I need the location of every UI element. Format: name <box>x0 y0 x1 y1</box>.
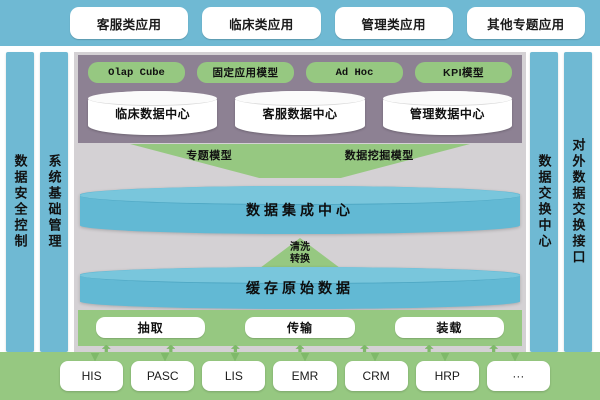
etl-step-label: 抽取 <box>138 319 164 336</box>
source-system-more[interactable]: ··· <box>487 361 550 391</box>
etl-step-label: 传输 <box>287 319 313 336</box>
etl-step-extract[interactable]: 抽取 <box>96 317 205 338</box>
etl-step-label: 装载 <box>436 319 462 336</box>
etl-step-transfer[interactable]: 传输 <box>245 317 354 338</box>
model-pill-label: Ad Hoc <box>336 67 374 79</box>
source-system-label: PASC <box>147 369 179 383</box>
app-pill-label: 其他专题应用 <box>487 14 564 33</box>
app-pill-clinical[interactable]: 临床类应用 <box>202 7 320 39</box>
source-system-crm[interactable]: CRM <box>345 361 408 391</box>
sidebar-data-exchange-center[interactable]: 数据交换中心 <box>530 52 558 352</box>
analytic-panel: Olap Cube 固定应用模型 Ad Hoc KPI模型 临床数据中心 客服数… <box>78 55 522 143</box>
transform-label-cleanse: 清洗 <box>290 242 310 255</box>
model-pill-kpi-model[interactable]: KPI模型 <box>415 62 512 83</box>
etl-step-row: 抽取 传输 装载 <box>96 317 504 338</box>
source-system-emr[interactable]: EMR <box>273 361 336 391</box>
sidebar-label: 系统基础管理 <box>48 154 61 250</box>
source-system-lis[interactable]: LIS <box>202 361 265 391</box>
source-system-row: HIS PASC LIS EMR CRM HRP ··· <box>60 361 550 391</box>
data-center-label: 客服数据中心 <box>262 105 337 122</box>
sidebar-label: 数据安全控制 <box>14 154 27 250</box>
top-application-band: 客服类应用 临床类应用 管理类应用 其他专题应用 <box>0 0 600 46</box>
source-system-label: CRM <box>362 369 389 383</box>
source-system-label: EMR <box>292 369 319 383</box>
cache-raw-data-layer[interactable]: 缓存原始数据 <box>80 267 520 309</box>
app-pill-label: 临床类应用 <box>229 14 294 33</box>
source-system-label: HRP <box>435 369 460 383</box>
transform-arrow-labels: 清洗 转换 <box>260 239 340 269</box>
sidebar-system-base-management[interactable]: 系统基础管理 <box>40 52 68 352</box>
application-pill-row: 客服类应用 临床类应用 管理类应用 其他专题应用 <box>70 7 585 39</box>
sidebar-label: 数据交换中心 <box>538 154 551 250</box>
data-integration-center-label: 数据集成中心 <box>246 200 354 220</box>
sidebar-external-data-exchange-interface[interactable]: 对外数据交换接口 <box>564 52 592 352</box>
app-pill-customer-service[interactable]: 客服类应用 <box>70 7 188 39</box>
app-pill-label: 客服类应用 <box>97 14 162 33</box>
cache-raw-data-label: 缓存原始数据 <box>246 278 354 298</box>
etl-step-load[interactable]: 装载 <box>395 317 504 338</box>
funnel-label-data-mining-model: 数据挖掘模型 <box>345 147 414 163</box>
source-system-hrp[interactable]: HRP <box>416 361 479 391</box>
transform-label-convert: 转换 <box>290 254 310 267</box>
data-center-row: 临床数据中心 客服数据中心 管理数据中心 <box>88 91 512 135</box>
model-pill-ad-hoc[interactable]: Ad Hoc <box>306 62 403 83</box>
model-pill-olap-cube[interactable]: Olap Cube <box>88 62 185 83</box>
model-pill-fixed-application-model[interactable]: 固定应用模型 <box>197 62 294 83</box>
app-pill-management[interactable]: 管理类应用 <box>335 7 453 39</box>
data-integration-center[interactable]: 数据集成中心 <box>80 186 520 234</box>
data-center-label: 临床数据中心 <box>115 105 190 122</box>
data-center-management[interactable]: 管理数据中心 <box>383 91 512 135</box>
source-system-his[interactable]: HIS <box>60 361 123 391</box>
data-center-label: 管理数据中心 <box>410 105 485 122</box>
model-pill-label: Olap Cube <box>108 67 165 79</box>
sidebar-data-security-control[interactable]: 数据安全控制 <box>6 52 34 352</box>
model-pill-label: 固定应用模型 <box>213 65 279 80</box>
app-pill-label: 管理类应用 <box>361 14 426 33</box>
source-system-label: HIS <box>82 369 102 383</box>
model-pill-label: KPI模型 <box>443 65 484 80</box>
source-system-pasc[interactable]: PASC <box>131 361 194 391</box>
funnel-label-topic-model: 专题模型 <box>186 147 232 163</box>
data-center-clinical[interactable]: 临床数据中心 <box>88 91 217 135</box>
data-center-customer-service[interactable]: 客服数据中心 <box>235 91 364 135</box>
central-stack: Olap Cube 固定应用模型 Ad Hoc KPI模型 临床数据中心 客服数… <box>74 52 526 352</box>
app-pill-other-topic[interactable]: 其他专题应用 <box>467 7 585 39</box>
source-system-label: LIS <box>225 369 243 383</box>
source-system-label: ··· <box>512 369 524 383</box>
sidebar-label: 对外数据交换接口 <box>572 138 585 266</box>
architecture-diagram: 客服类应用 临床类应用 管理类应用 其他专题应用 数据安全控制 系统基础管理 数… <box>0 0 600 400</box>
model-funnel-labels: 专题模型 数据挖掘模型 <box>130 147 470 163</box>
analytic-model-row: Olap Cube 固定应用模型 Ad Hoc KPI模型 <box>88 62 512 83</box>
